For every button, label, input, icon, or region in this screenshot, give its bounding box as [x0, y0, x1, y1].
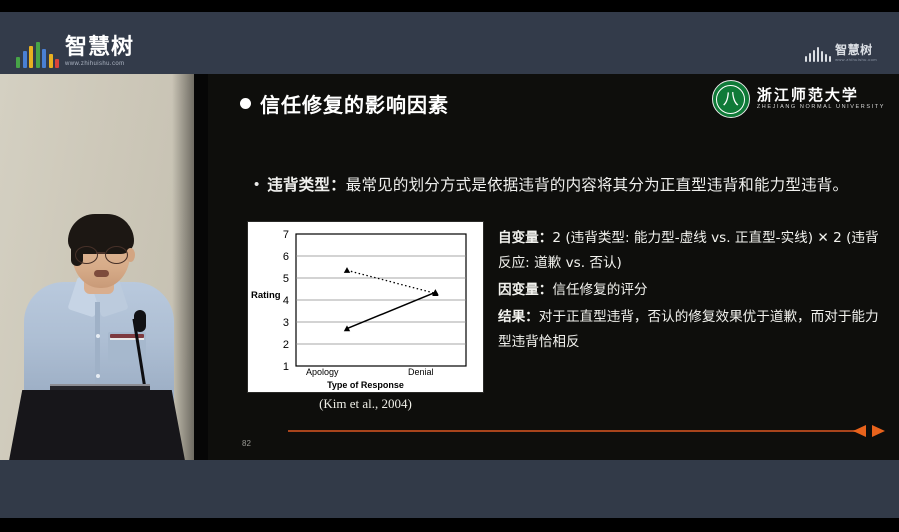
presenter-video[interactable]	[0, 74, 194, 466]
figure-chart: 1234567 Rating Apology Denial Type of Re…	[248, 222, 483, 392]
slide-page-number: 82	[242, 439, 251, 448]
site-header: 智慧树 www.zhihuishu.com 智慧树 www.zhihuishu.…	[0, 12, 899, 74]
brand-name: 智慧树	[65, 37, 134, 59]
logo-bar	[36, 42, 40, 68]
chart-xtick-denial: Denial	[408, 367, 434, 377]
chart-ytick: 1	[283, 361, 289, 373]
stage: 信任修复的影响因素 八 浙江师范大学 ZHEJIANG NORMAL UNIVE…	[0, 74, 899, 460]
podium	[8, 390, 186, 466]
logo-bar	[49, 54, 53, 68]
university-name-en: ZHEJIANG NORMAL UNIVERSITY	[757, 103, 885, 111]
slide-title: 信任修复的影响因素	[240, 89, 449, 118]
chart-ytick: 3	[283, 317, 289, 329]
glasses-icon	[74, 246, 130, 262]
bullet-dot-icon	[240, 98, 251, 109]
logo-bars-small-icon	[805, 47, 832, 62]
logo-bar	[16, 57, 20, 68]
logo-bar-small	[809, 53, 812, 62]
body-label-1: 因变量：	[498, 282, 552, 298]
university-logo: 八 浙江师范大学 ZHEJIANG NORMAL UNIVERSITY	[712, 80, 885, 118]
logo-bar	[29, 46, 33, 68]
body-line-1: 因变量：信任修复的评分	[498, 278, 886, 303]
university-crest-icon: 八	[712, 80, 750, 118]
logo-bar-small	[805, 56, 808, 62]
logo-bar-small	[825, 54, 828, 62]
prev-slide-arrow-icon[interactable]	[853, 425, 866, 437]
body-label-2: 结果：	[498, 309, 539, 325]
slide-bullet: • 违背类型：最常见的划分方式是依据违背的内容将其分为正直型违背和能力型违背。	[254, 174, 894, 196]
bullet-label: 违背类型：	[267, 176, 346, 194]
body-value-1: 信任修复的评分	[552, 282, 647, 298]
body-line-2: 结果：对于正直型违背，否认的修复效果优于道歉，而对于能力型违背恰相反	[498, 305, 886, 355]
university-name-cn: 浙江师范大学	[757, 87, 885, 103]
logo-bar-small	[817, 47, 820, 62]
chart-svg: 1234567	[248, 222, 483, 392]
chart-ytick: 2	[283, 339, 289, 351]
chart-xtick-apology: Apology	[306, 367, 339, 377]
brand-url-small: www.zhihuishu.com	[835, 57, 877, 62]
bottom-bar	[0, 460, 899, 518]
logo-bar-small	[813, 50, 816, 62]
chart-ytick: 5	[283, 273, 289, 285]
logo-bars-icon	[16, 42, 59, 68]
presenter-mouth	[94, 270, 109, 277]
body-value-0: 2 (违背类型: 能力型-虚线 vs. 正直型-实线) ✕ 2 (违背反应: 道…	[498, 230, 879, 271]
chart-ytick: 6	[283, 251, 289, 263]
logo-bar	[42, 49, 46, 68]
next-slide-arrow-icon[interactable]	[872, 425, 885, 437]
slide: 信任修复的影响因素 八 浙江师范大学 ZHEJIANG NORMAL UNIVE…	[208, 74, 899, 460]
slide-title-text: 信任修复的影响因素	[260, 89, 449, 118]
chart-ytick: 7	[283, 229, 289, 241]
slide-footer-rule	[288, 430, 858, 432]
video-player-page: 智慧树 www.zhihuishu.com 智慧树 www.zhihuishu.…	[0, 0, 899, 532]
logo-bar-small	[821, 51, 824, 62]
logo-bar	[23, 51, 27, 68]
slide-nav-arrows[interactable]	[853, 425, 885, 437]
chart-y-label: Rating	[251, 290, 281, 301]
chart-ytick: 4	[283, 295, 289, 307]
brand-url: www.zhihuishu.com	[65, 60, 134, 68]
shirt-button-bottom	[96, 374, 100, 378]
slide-body-text: 自变量：2 (违背类型: 能力型-虚线 vs. 正直型-实线) ✕ 2 (违背反…	[498, 226, 886, 357]
chart-x-label: Type of Response	[248, 380, 483, 390]
bullet-body: 最常见的划分方式是依据违背的内容将其分为正直型违背和能力型违背。	[346, 176, 848, 194]
top-black-strip	[0, 0, 899, 12]
figure-caption: (Kim et al., 2004)	[248, 396, 483, 412]
video-slide-divider	[194, 74, 208, 466]
shirt-button-top	[96, 334, 100, 338]
logo-bar	[55, 59, 59, 68]
crest-glyph: 八	[723, 91, 739, 107]
chart-plot: 1234567 Rating Apology Denial Type of Re…	[248, 222, 483, 392]
footer-black-strip	[0, 518, 899, 532]
bullet-content: 违背类型：最常见的划分方式是依据违背的内容将其分为正直型违背和能力型违背。	[267, 174, 848, 196]
zhihuishu-logo-small[interactable]: 智慧树 www.zhihuishu.com	[805, 38, 877, 62]
zhihuishu-logo[interactable]: 智慧树 www.zhihuishu.com	[16, 34, 134, 68]
body-label-0: 自变量：	[498, 230, 552, 246]
logo-bar-small	[829, 56, 832, 62]
brand-name-small: 智慧树	[835, 44, 877, 56]
microphone-icon	[134, 310, 146, 332]
body-line-0: 自变量：2 (违背类型: 能力型-虚线 vs. 正直型-实线) ✕ 2 (违背反…	[498, 226, 886, 276]
bullet-marker: •	[254, 174, 259, 196]
body-value-2: 对于正直型违背，否认的修复效果优于道歉，而对于能力型违背恰相反	[498, 309, 879, 350]
